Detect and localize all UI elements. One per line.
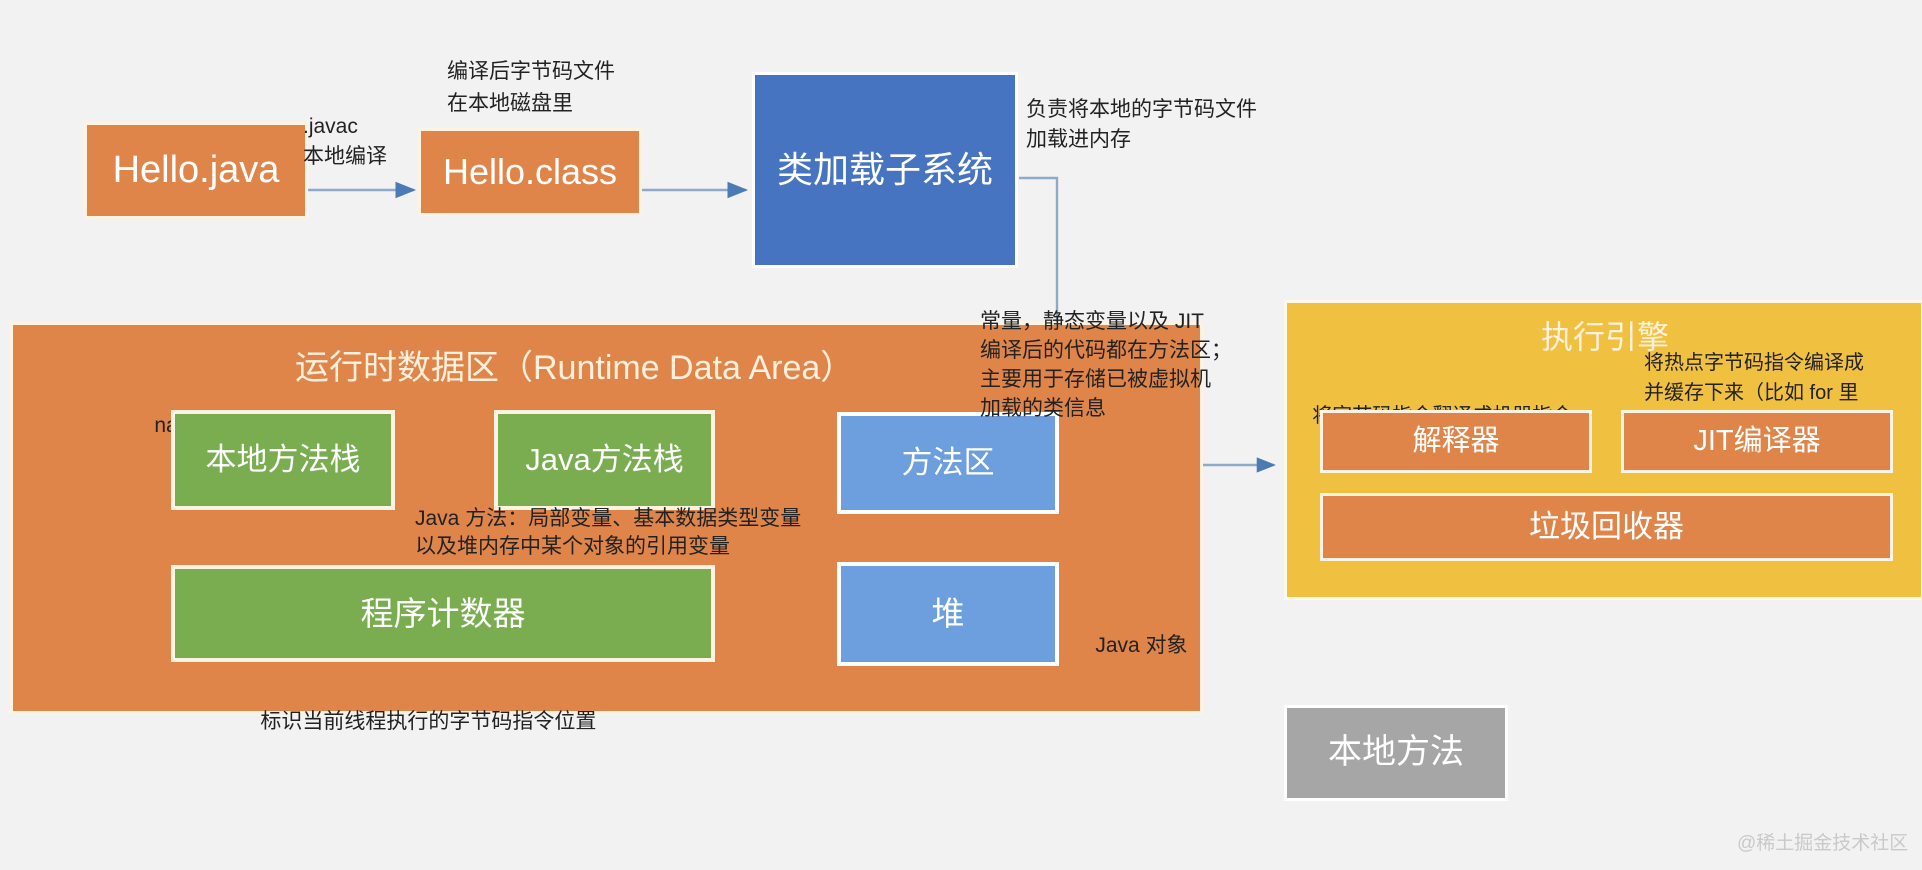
method-area-note-2: 编译后的代码都在方法区； [980, 337, 1232, 365]
class-file-note: 编译后字节码文件 [447, 58, 615, 86]
program-counter-note-label: 标识当前线程执行的字节码指令位置 [260, 710, 596, 733]
java-stack-note-line1: Java 方法：局部变量、基本数据类型变量 [415, 507, 801, 530]
native-method-stack-label: 本地方法栈 [206, 442, 361, 478]
method-area-note-line1: 常量，静态变量以及 JIT [980, 310, 1204, 333]
method-area-label: 方法区 [902, 445, 995, 481]
method-area-note-line4: 加载的类信息 [980, 397, 1106, 420]
classloader-note-line1: 负责将本地的字节码文件 [1026, 98, 1257, 121]
runtime-data-area-title: 运行时数据区（Runtime Data Area） [295, 340, 854, 389]
hello-class-label: Hello.class [443, 151, 617, 192]
program-counter-box[interactable]: 程序计数器 [171, 565, 715, 662]
program-counter-label: 程序计数器 [361, 595, 526, 633]
hello-class-box[interactable]: Hello.class [418, 128, 642, 216]
method-area-box[interactable]: 方法区 [837, 412, 1059, 514]
compile-arrow-note: .javac [303, 113, 358, 141]
classloader-note: 负责将本地的字节码文件 [1026, 96, 1257, 124]
interpreter-box[interactable]: 解释器 [1320, 410, 1592, 473]
method-area-note-3: 主要用于存储已被虚拟机 [980, 366, 1211, 394]
heap-label: 堆 [932, 595, 965, 633]
class-loader-subsystem-label: 类加载子系统 [777, 149, 993, 190]
jit-note: 将热点字节码指令编译成 [1644, 350, 1864, 376]
hello-java-box[interactable]: Hello.java [84, 122, 308, 219]
method-area-note: 常量，静态变量以及 JIT [980, 308, 1204, 336]
java-method-stack-box[interactable]: Java方法栈 [494, 410, 715, 510]
native-method-stack-box[interactable]: 本地方法栈 [171, 410, 395, 510]
runtime-data-area-title-label: 运行时数据区（Runtime Data Area） [295, 349, 854, 387]
java-stack-note-line2: 以及堆内存中某个对象的引用变量 [415, 535, 730, 558]
watermark-label: @稀土掘金技术社区 [1737, 833, 1908, 854]
class-loader-subsystem-box[interactable]: 类加载子系统 [752, 72, 1018, 268]
jit-note-line1: 将热点字节码指令编译成 [1644, 352, 1864, 374]
java-method-stack-label: Java方法栈 [525, 442, 683, 478]
compile-arrow-note-2: 本地编译 [303, 143, 387, 171]
heap-box[interactable]: 堆 [837, 562, 1059, 666]
method-area-note-line3: 主要用于存储已被虚拟机 [980, 368, 1211, 391]
heap-note: Java 对象 [1072, 604, 1188, 687]
interpreter-label: 解释器 [1412, 425, 1499, 458]
method-area-note-4: 加载的类信息 [980, 395, 1106, 423]
jit-note-2: 并缓存下来（比如 for 里 [1644, 380, 1858, 406]
class-file-note-2: 在本地磁盘里 [447, 90, 573, 118]
watermark: @稀土掘金技术社区 [1737, 828, 1908, 855]
program-counter-note: 标识当前线程执行的字节码指令位置 [237, 680, 596, 763]
jvm-architecture-diagram: Hello.java .javac 本地编译 编译后字节码文件 在本地磁盘里 H… [0, 0, 1922, 870]
java-stack-note: Java 方法：局部变量、基本数据类型变量 [415, 505, 801, 533]
method-area-note-line2: 编译后的代码都在方法区； [980, 339, 1232, 362]
jit-note-line2: 并缓存下来（比如 for 里 [1644, 382, 1858, 404]
compile-arrow-note-line1: .javac [303, 115, 358, 138]
class-file-note-line1: 编译后字节码文件 [447, 60, 615, 83]
jit-compiler-label: JIT编译器 [1693, 425, 1820, 458]
native-method-box[interactable]: 本地方法 [1284, 705, 1508, 801]
class-file-note-line2: 在本地磁盘里 [447, 92, 573, 115]
garbage-collector-label: 垃圾回收器 [1529, 509, 1684, 545]
compile-arrow-note-line2: 本地编译 [303, 145, 387, 168]
classloader-note-line2: 加载进内存 [1026, 128, 1131, 151]
native-method-box-label: 本地方法 [1328, 733, 1464, 772]
jit-compiler-box[interactable]: JIT编译器 [1621, 410, 1893, 473]
classloader-note-2: 加载进内存 [1026, 126, 1131, 154]
garbage-collector-box[interactable]: 垃圾回收器 [1320, 493, 1893, 561]
heap-note-label: Java 对象 [1095, 634, 1187, 657]
hello-java-label: Hello.java [113, 149, 280, 193]
java-stack-note-2: 以及堆内存中某个对象的引用变量 [415, 533, 730, 561]
